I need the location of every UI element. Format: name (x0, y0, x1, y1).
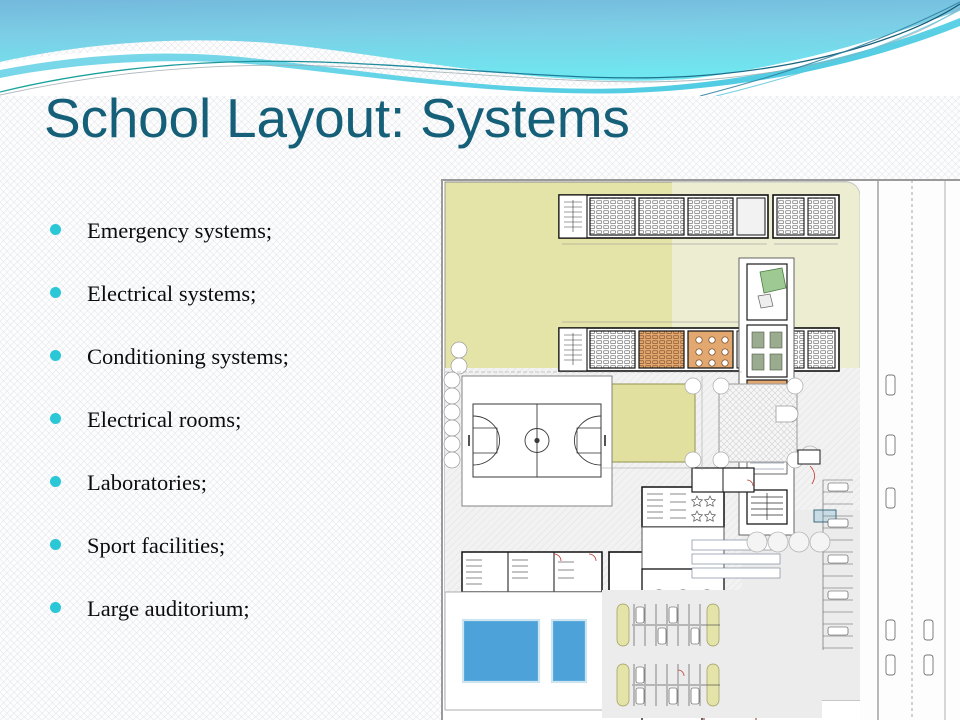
bullet-item-conditioning-systems: Conditioning systems; (50, 344, 410, 407)
classroom-block-south (559, 322, 839, 371)
bullet-label: Laboratories; (87, 470, 207, 496)
bullet-label: Electrical systems; (87, 281, 256, 307)
bullet-item-laboratories: Laboratories; (50, 470, 410, 533)
bullet-item-electrical-systems: Electrical systems; (50, 281, 410, 344)
bullet-label: Emergency systems; (87, 218, 272, 244)
cafeteria (642, 487, 724, 527)
bullet-dot-icon (50, 413, 61, 424)
bullet-item-sport-facilities: Sport facilities; (50, 533, 410, 596)
entry-rooms (692, 468, 754, 492)
bullet-dot-icon (50, 602, 61, 613)
courtyard-paved (713, 378, 803, 468)
bullet-dot-icon (50, 287, 61, 298)
changing-rooms (462, 552, 602, 592)
bullet-label: Conditioning systems; (87, 344, 289, 370)
bullet-list: Emergency systems; Electrical systems; C… (50, 218, 410, 659)
bullet-item-large-auditorium: Large auditorium; (50, 596, 410, 659)
parking-lot-north (692, 540, 780, 578)
bullet-dot-icon (50, 350, 61, 361)
header-wave-decoration (0, 0, 960, 96)
green-lawn-patch (760, 268, 786, 293)
classroom-block-north (559, 195, 839, 244)
basketball-court (462, 376, 612, 506)
laboratory-room (639, 331, 684, 368)
bullet-label: Electrical rooms; (87, 407, 241, 433)
bullet-item-electrical-rooms: Electrical rooms; (50, 407, 410, 470)
slide: School Layout: Systems Emergency systems… (0, 0, 960, 720)
bullet-label: Large auditorium; (87, 596, 250, 622)
swimming-pool-main (463, 620, 539, 682)
bullet-dot-icon (50, 224, 61, 235)
bullet-dot-icon (50, 539, 61, 550)
bullet-dot-icon (50, 476, 61, 487)
bullet-item-emergency-systems: Emergency systems; (50, 218, 410, 281)
site-plan-drawing (442, 180, 960, 720)
school-site-plan-image (441, 179, 960, 720)
bullet-label: Sport facilities; (87, 533, 225, 559)
parking-lot-south (602, 590, 822, 718)
slide-title: School Layout: Systems (44, 88, 744, 148)
swimming-pool-training (552, 620, 586, 682)
